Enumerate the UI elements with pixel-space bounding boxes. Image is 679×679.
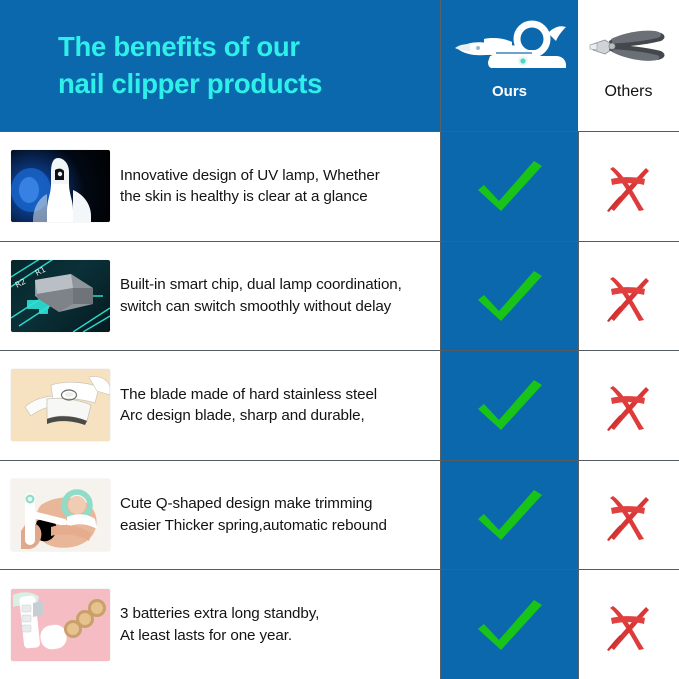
ours-mark-cell (441, 570, 578, 679)
cross-mark-icon (601, 267, 657, 325)
cross-mark-icon (601, 486, 657, 544)
comparison-infographic: The benefits of our nail clipper product… (0, 0, 679, 679)
column-divider-left (440, 0, 441, 679)
svg-text:R2: R2 (13, 277, 27, 290)
uv-lamp-clipper-thumbnail (11, 150, 110, 222)
feature-text-cell: Innovative design of UV lamp, Whether th… (120, 132, 441, 241)
check-mark-icon (474, 157, 546, 215)
feature-text-cell: 3 batteries extra long standby, At least… (120, 570, 441, 679)
ours-label: Ours (492, 83, 527, 100)
cross-mark-icon (601, 157, 657, 215)
ours-clipper-icon (450, 17, 570, 77)
feature-description: Innovative design of UV lamp, Whether th… (120, 165, 394, 208)
svg-text:R1: R1 (33, 265, 47, 278)
thumbnail-cell (0, 351, 120, 460)
column-divider-right (578, 131, 579, 679)
hand-holding-clipper-thumbnail (11, 479, 110, 551)
check-mark-icon (474, 596, 546, 654)
feature-text-cell: Cute Q-shaped design make trimming easie… (120, 461, 441, 570)
batteries-clipper-thumbnail (11, 589, 110, 661)
ours-mark-cell (441, 461, 578, 570)
thumbnail-cell: R1 R2 (0, 242, 120, 351)
thumbnail-cell (0, 570, 120, 679)
feature-description: Built-in smart chip, dual lamp coordinat… (120, 274, 416, 317)
others-mark-cell (578, 242, 679, 351)
feature-description: 3 batteries extra long standby, At least… (120, 603, 333, 646)
ours-mark-cell (441, 242, 578, 351)
check-mark-icon (474, 486, 546, 544)
thumbnail-cell (0, 461, 120, 570)
feature-text-cell: Built-in smart chip, dual lamp coordinat… (120, 242, 441, 351)
others-mark-cell (578, 351, 679, 460)
feature-description: The blade made of hard stainless steel A… (120, 384, 391, 427)
ours-mark-cell (441, 132, 578, 241)
table-header: The benefits of our nail clipper product… (0, 0, 679, 131)
others-mark-cell (578, 132, 679, 241)
thumbnail-cell (0, 132, 120, 241)
ours-mark-cell (441, 351, 578, 460)
title-cell: The benefits of our nail clipper product… (0, 0, 441, 131)
check-mark-icon (474, 376, 546, 434)
others-mark-cell (578, 570, 679, 679)
page-title: The benefits of our nail clipper product… (0, 29, 332, 102)
others-clipper-icon (587, 17, 671, 77)
column-header-ours: Ours (441, 0, 578, 131)
others-mark-cell (578, 461, 679, 570)
circuit-board-chip-thumbnail: R1 R2 (11, 260, 110, 332)
cross-mark-icon (601, 376, 657, 434)
cross-mark-icon (601, 596, 657, 654)
column-header-others: Others (578, 0, 679, 131)
others-label: Others (604, 83, 652, 101)
check-mark-icon (474, 267, 546, 325)
stainless-steel-blade-thumbnail (11, 369, 110, 441)
feature-description: Cute Q-shaped design make trimming easie… (120, 493, 401, 536)
feature-text-cell: The blade made of hard stainless steel A… (120, 351, 441, 460)
